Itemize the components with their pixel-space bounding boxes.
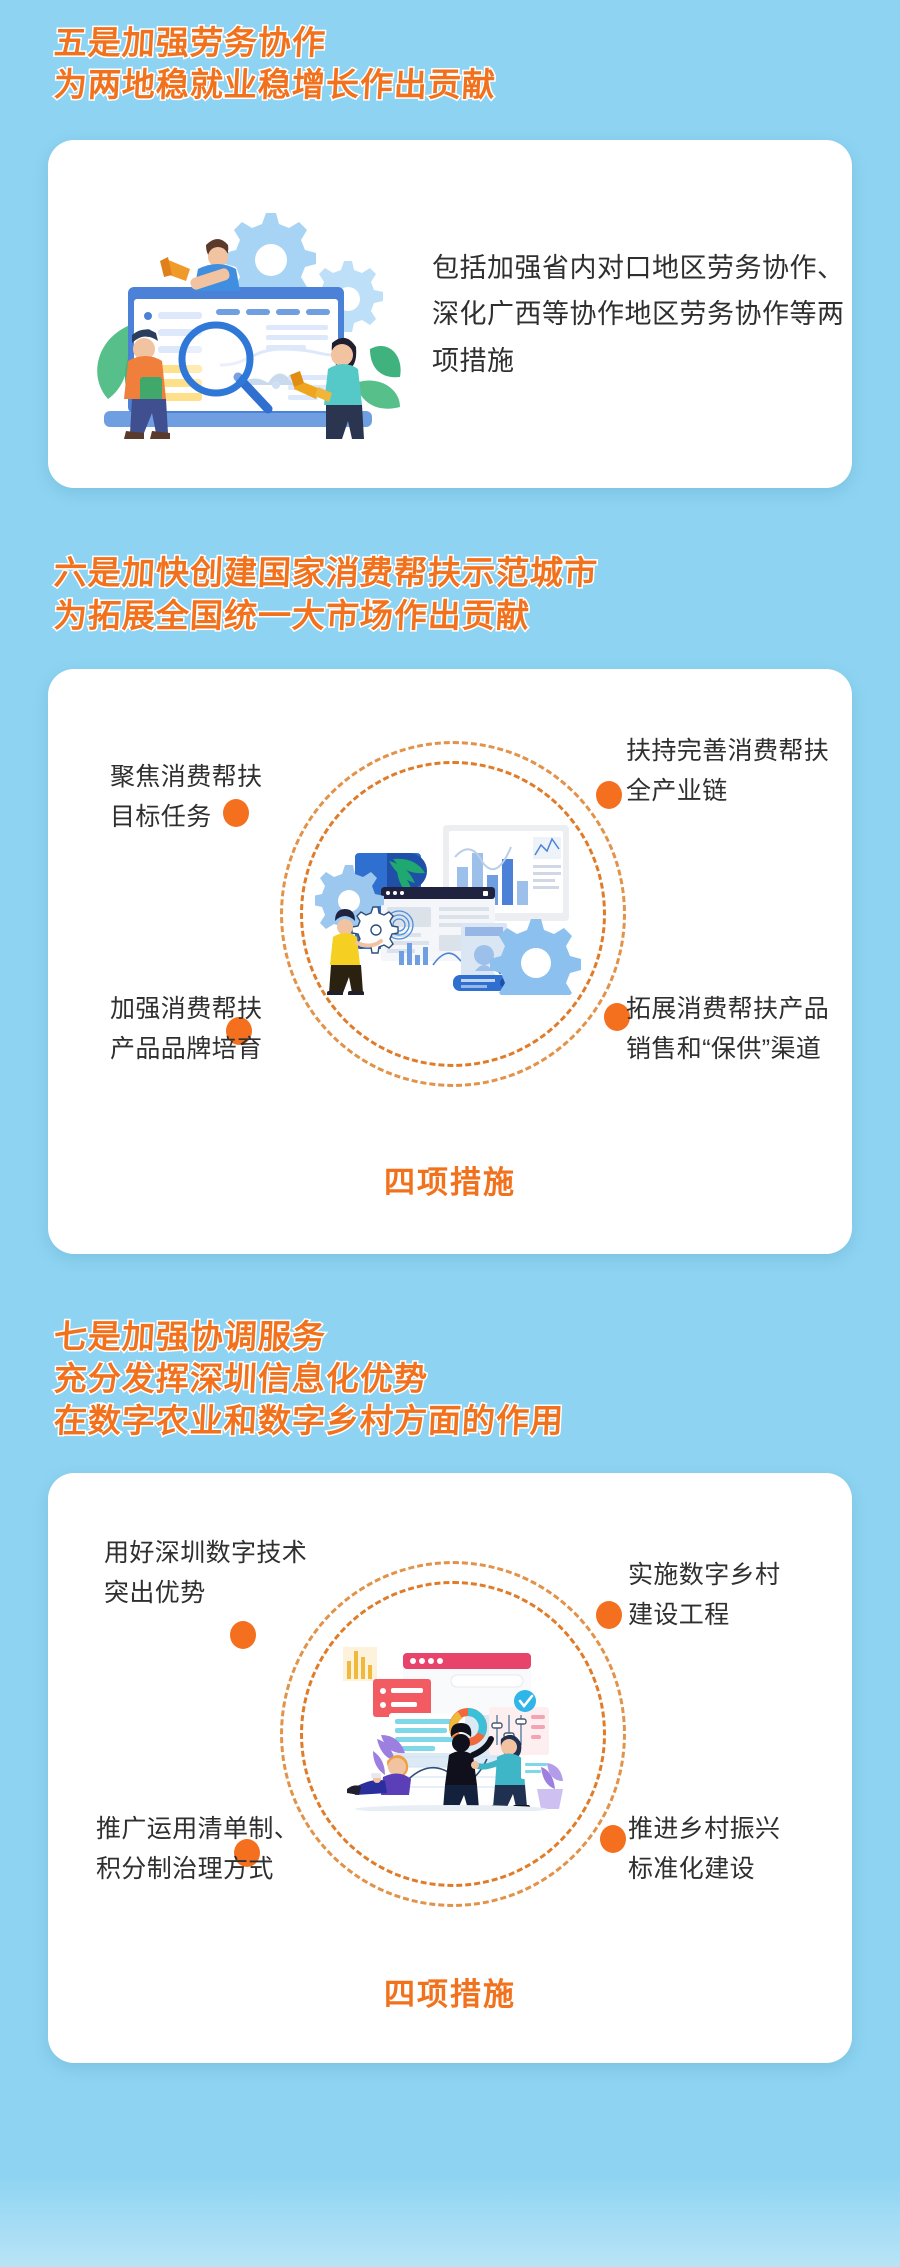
digital-dashboard-people-illustration — [325, 1639, 575, 1811]
section-six-card: 聚焦消费帮扶 目标任务 扶持完善消费帮扶 全产业链 加强消费帮扶 产品品牌培育 … — [48, 669, 852, 1254]
section-seven-caption: 四项措施 — [48, 1969, 852, 2014]
orbit-dot-top-left — [230, 1621, 256, 1649]
section-five-body-text: 包括加强省内对口地区劳务协作、深化广西等协作地区劳务协作等两项措施 — [432, 245, 852, 384]
data-analytics-gears-illustration — [315, 815, 585, 995]
orbit-diagram-seven: 用好深圳数字技术 突出优势 实施数字乡村 建设工程 推广运用清单制、 积分制治理… — [48, 1473, 852, 2063]
infographic-page: 五是加强劳务协作 为两地稳就业稳增长作出贡献 — [0, 0, 900, 2267]
heading-line-2: 充分发挥深圳信息化优势 — [53, 1358, 900, 1400]
orbit-label-bottom-left: 加强消费帮扶 产品品牌培育 — [110, 989, 262, 1070]
heading-line-2: 为拓展全国统一大市场作出贡献 — [53, 595, 900, 637]
heading-line-3: 在数字农业和数字乡村方面的作用 — [53, 1400, 900, 1442]
orbit-label-top-left: 用好深圳数字技术 突出优势 — [104, 1533, 307, 1614]
orbit-label-top-right: 实施数字乡村 建设工程 — [628, 1555, 780, 1636]
orbit-label-top-right: 扶持完善消费帮扶 全产业链 — [626, 731, 829, 812]
section-seven: 七是加强协调服务 充分发挥深圳信息化优势 在数字农业和数字乡村方面的作用 用好深… — [0, 1254, 900, 2063]
orbit-dot-bottom-right — [600, 1825, 626, 1853]
orbit-label-bottom-left: 推广运用清单制、 积分制治理方式 — [96, 1809, 299, 1890]
section-five-heading: 五是加强劳务协作 为两地稳就业稳增长作出贡献 — [0, 22, 900, 106]
section-seven-heading: 七是加强协调服务 充分发挥深圳信息化优势 在数字农业和数字乡村方面的作用 — [0, 1316, 900, 1443]
section-six: 六是加快创建国家消费帮扶示范城市 为拓展全国统一大市场作出贡献 聚焦消费帮扶 目… — [0, 488, 900, 1253]
heading-line-1: 六是加快创建国家消费帮扶示范城市 — [53, 552, 900, 594]
section-seven-card: 用好深圳数字技术 突出优势 实施数字乡村 建设工程 推广运用清单制、 积分制治理… — [48, 1473, 852, 2063]
orbit-dot-top-right — [596, 1601, 622, 1629]
orbit-dot-top-right — [596, 781, 622, 809]
section-six-heading: 六是加快创建国家消费帮扶示范城市 为拓展全国统一大市场作出贡献 — [0, 552, 900, 636]
orbit-label-bottom-right: 拓展消费帮扶产品 销售和“保供”渠道 — [626, 989, 829, 1070]
section-five: 五是加强劳务协作 为两地稳就业稳增长作出贡献 — [0, 0, 900, 488]
heading-line-2: 为两地稳就业稳增长作出贡献 — [53, 64, 900, 106]
section-five-card: 包括加强省内对口地区劳务协作、深化广西等协作地区劳务协作等两项措施 — [48, 140, 852, 488]
heading-line-1: 五是加强劳务协作 — [53, 22, 900, 64]
teamwork-dashboard-search-illustration — [70, 199, 410, 429]
heading-line-1: 七是加强协调服务 — [53, 1316, 900, 1358]
orbit-label-bottom-right: 推进乡村振兴 标准化建设 — [628, 1809, 780, 1890]
orbit-label-top-left: 聚焦消费帮扶 目标任务 — [110, 757, 262, 838]
orbit-diagram-six: 聚焦消费帮扶 目标任务 扶持完善消费帮扶 全产业链 加强消费帮扶 产品品牌培育 … — [48, 669, 852, 1254]
section-six-caption: 四项措施 — [48, 1157, 852, 1202]
